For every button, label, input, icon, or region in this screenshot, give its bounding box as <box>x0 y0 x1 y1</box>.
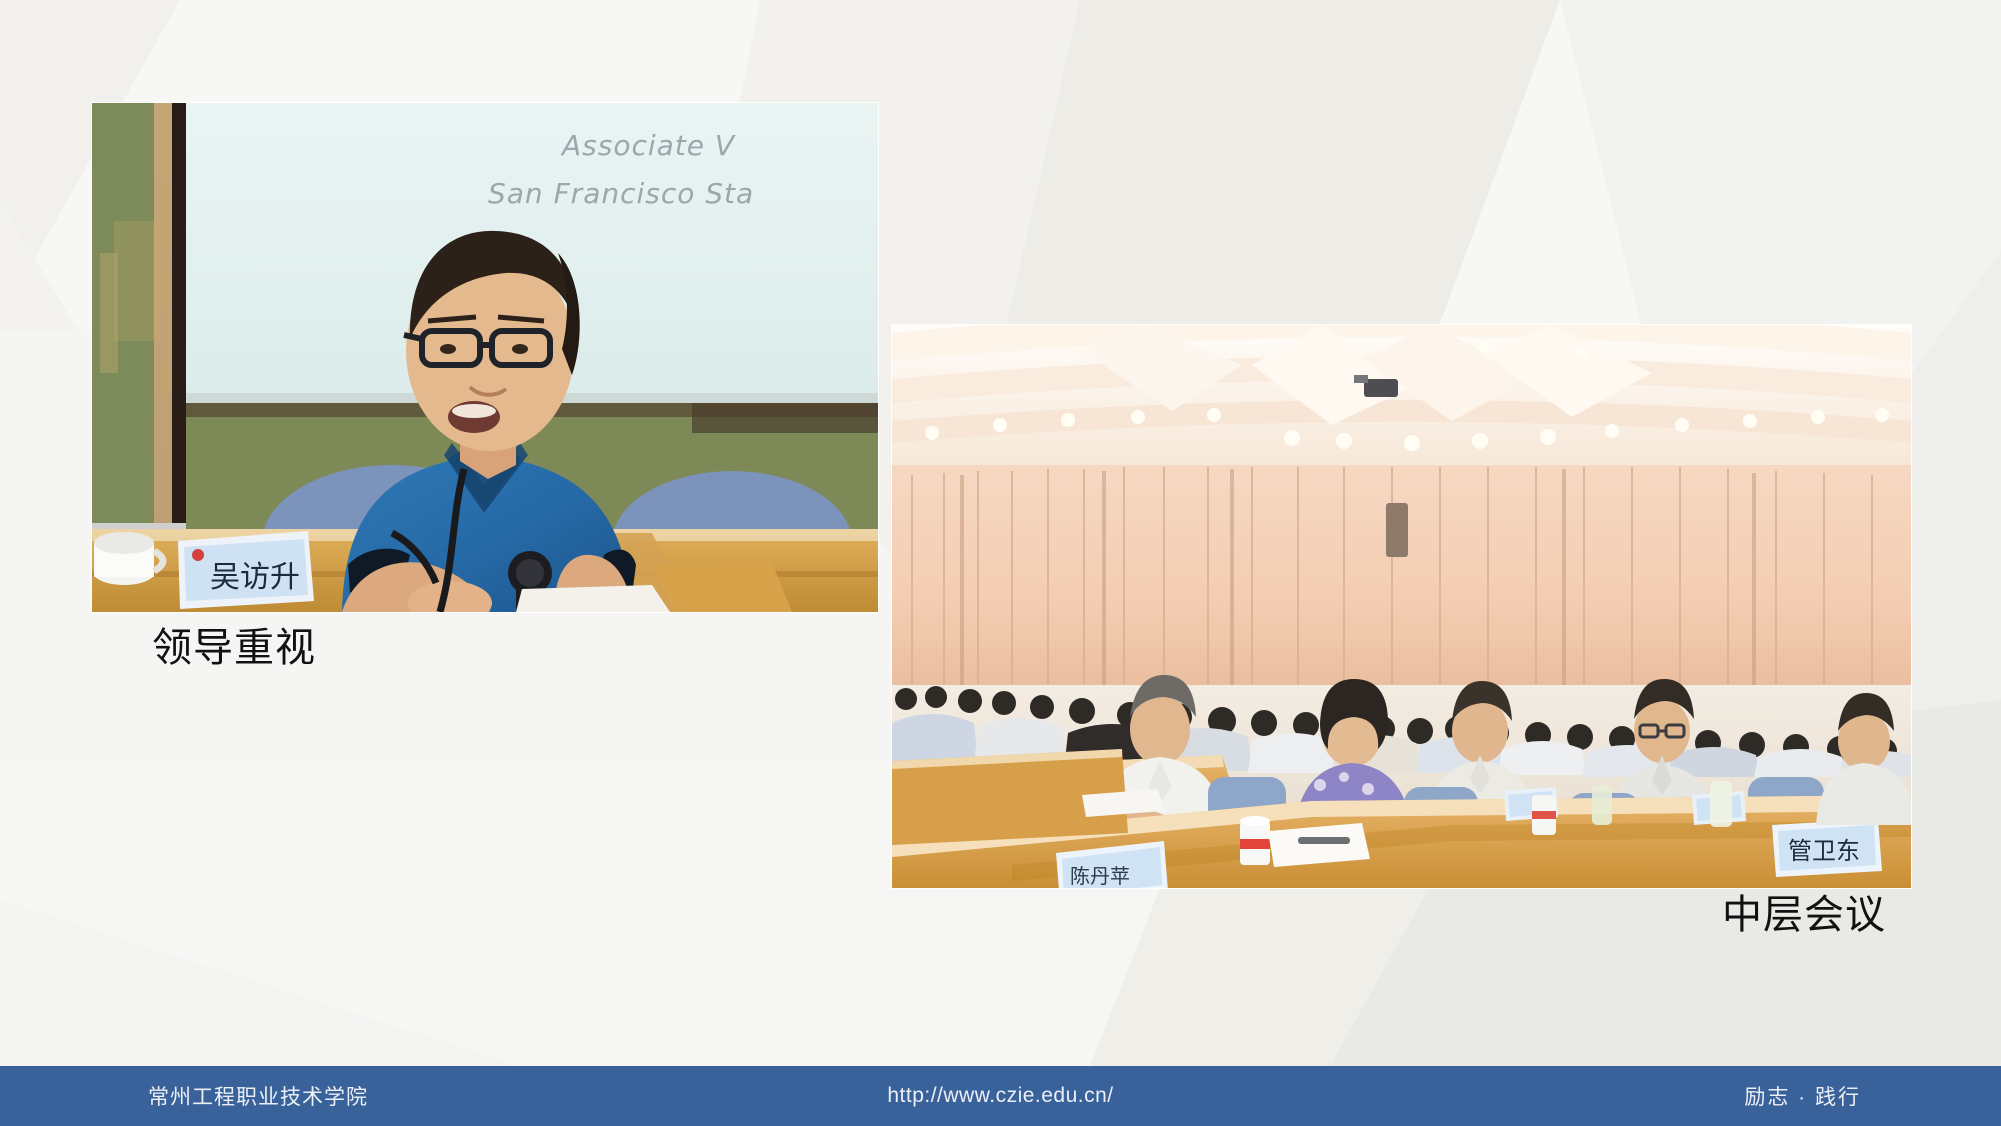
svg-text:Associate V: Associate V <box>560 129 736 162</box>
footer-motto: 励志 · 践行 <box>1744 1081 1861 1111</box>
nameplate-wu-fangsheng: 吴访升 <box>178 531 314 609</box>
svg-text:管卫东: 管卫东 <box>1788 837 1860 865</box>
presentation-slide: Associate V San Francisco Sta <box>0 0 2001 1126</box>
svg-text:陈丹苹: 陈丹苹 <box>1070 864 1130 888</box>
caption-leadership-attention: 领导重视 <box>152 626 316 670</box>
leader-speech-photo-art: Associate V San Francisco Sta <box>92 103 878 612</box>
footer-institution-name: 常州工程职业技术学院 <box>148 1081 368 1111</box>
meeting-room-art: 管卫东 陈丹苹 <box>892 325 1911 888</box>
leader-speech-photo[interactable]: Associate V San Francisco Sta <box>92 103 878 612</box>
svg-text:San Francisco Sta: San Francisco Sta <box>488 177 754 210</box>
nameplate-guan-weidong: 管卫东 <box>1772 819 1882 877</box>
svg-text:吴访升: 吴访升 <box>210 560 300 595</box>
slide-footer: 常州工程职业技术学院 http://www.czie.edu.cn/ 励志 · … <box>0 1066 2001 1126</box>
caption-middle-management-meeting: 中层会议 <box>1722 893 1886 937</box>
middle-management-meeting-photo[interactable]: 管卫东 陈丹苹 <box>892 325 1911 888</box>
footer-website-url[interactable]: http://www.czie.edu.cn/ <box>887 1084 1113 1108</box>
